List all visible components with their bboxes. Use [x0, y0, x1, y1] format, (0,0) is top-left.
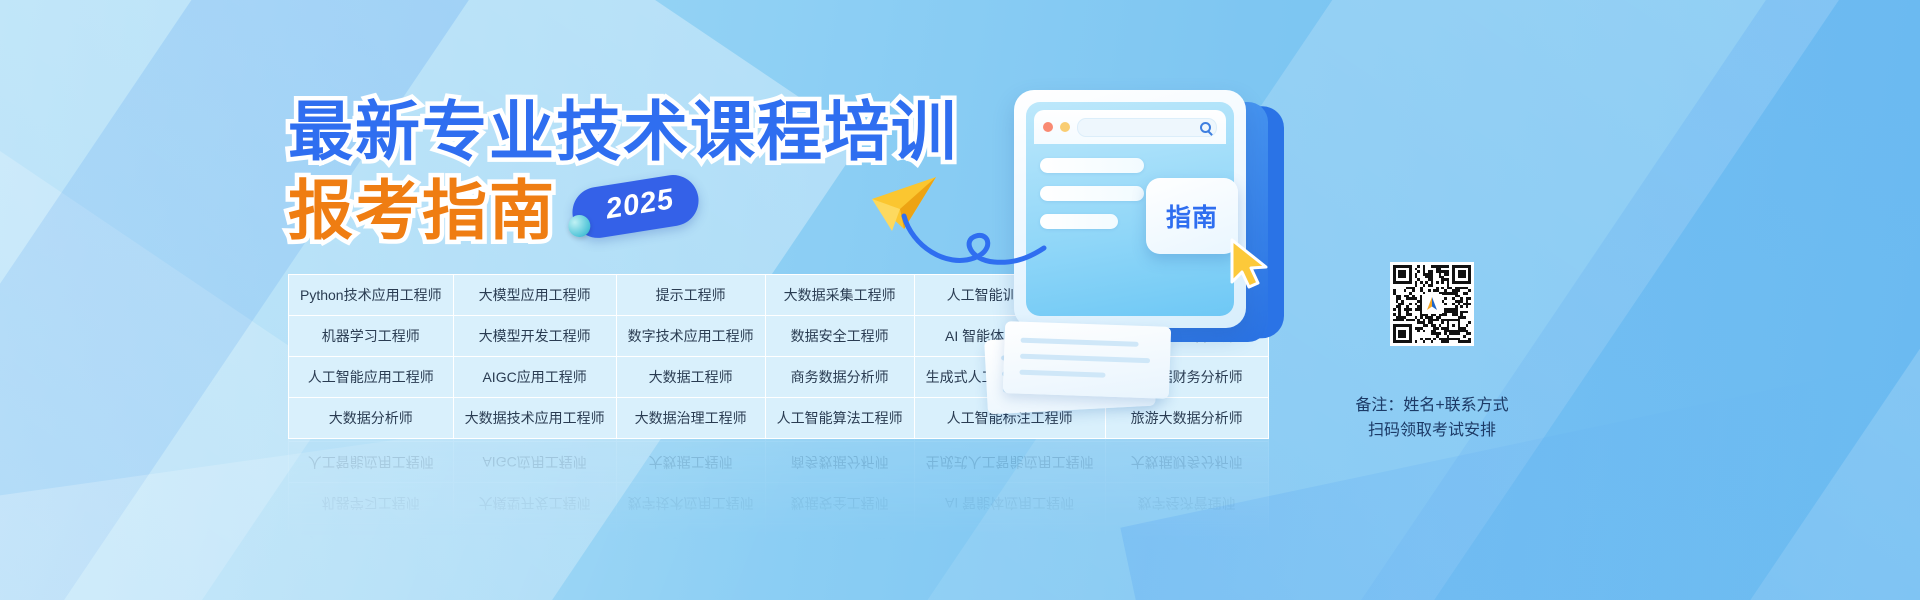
course-cell: 人工智能应用工程师 — [289, 357, 454, 398]
course-cell: 数据安全工程师 — [765, 483, 914, 524]
qr-block: 备注：姓名+联系方式 扫码领取考试安排 — [1352, 262, 1512, 444]
hero-illustration: 指南 — [960, 60, 1340, 460]
banner-title-sub: 报考指南 — [288, 175, 556, 248]
promo-banner: 最新专业技术课程培训 报考指南 2025 Python技术应用工程师大模型应用工… — [0, 0, 1920, 600]
course-cell: 大模型开发工程师 — [453, 316, 616, 357]
placeholder-line — [1040, 186, 1144, 201]
course-cell: 商务数据分析师 — [765, 442, 914, 483]
plane-trail-line — [898, 210, 1048, 279]
course-cell: 大数据工程师 — [616, 442, 765, 483]
table-row: 机器学习工程师大模型开发工程师数字技术应用工程师数据安全工程师AI 智能体应用工… — [289, 483, 1269, 524]
course-cell: 大数据采集工程师 — [765, 524, 914, 565]
guide-button-label: 指南 — [1166, 198, 1218, 234]
course-cell: AIGC应用工程师 — [453, 357, 616, 398]
qr-caption-line-1: 备注：姓名+联系方式 — [1352, 394, 1512, 419]
placeholder-line — [1040, 214, 1118, 229]
course-cell: 大模型应用工程师 — [453, 275, 616, 316]
printed-paper-group — [980, 310, 1210, 430]
qr-caption-line-2: 扫码领取考试安排 — [1352, 419, 1512, 444]
course-cell: 数字技术应用工程师 — [616, 483, 765, 524]
guide-button: 指南 — [1146, 178, 1238, 254]
course-cell: 大数据平台运维工程师 — [1105, 524, 1268, 565]
bg-streak — [1516, 118, 1920, 600]
course-cell: 机器学习工程师 — [289, 483, 454, 524]
course-cell: 人工智能应用工程师 — [289, 442, 454, 483]
banner-title-main: 最新专业技术课程培训 — [288, 96, 958, 169]
subtitle-row: 报考指南 2025 — [288, 175, 958, 248]
headline-group: 最新专业技术课程培训 报考指南 2025 — [288, 96, 958, 248]
course-cell: 大数据分析师 — [289, 398, 454, 439]
window-minimize-dot-icon — [1060, 122, 1070, 132]
course-cell: 提示工程师 — [616, 524, 765, 565]
course-cell: 大数据治理工程师 — [616, 398, 765, 439]
year-badge: 2025 — [569, 171, 702, 241]
course-cell: AI 智能体应用工程师 — [914, 483, 1105, 524]
course-cell: 大模型应用工程师 — [453, 524, 616, 565]
course-cell: 人工智能算法工程师 — [765, 398, 914, 439]
course-cell: 数据安全工程师 — [765, 316, 914, 357]
course-cell: AIGC应用工程师 — [453, 442, 616, 483]
content-placeholder-lines — [1040, 158, 1144, 242]
table-row: Python技术应用工程师大模型应用工程师提示工程师大数据采集工程师人工智能训练… — [289, 524, 1269, 565]
course-cell: 商务数据分析师 — [765, 357, 914, 398]
browser-titlebar — [1034, 110, 1226, 144]
course-cell: 数字技术应用工程师 — [616, 316, 765, 357]
course-cell: Python技术应用工程师 — [289, 275, 454, 316]
course-cell: Python技术应用工程师 — [289, 524, 454, 565]
qr-center-logo-icon — [1422, 294, 1442, 314]
course-cell: 人工智能训练工程师 — [914, 524, 1105, 565]
course-cell: 机器学习工程师 — [289, 316, 454, 357]
paper-sheet — [1003, 321, 1171, 399]
qr-code — [1390, 262, 1474, 346]
course-cell: 数字经济管理师 — [1105, 483, 1268, 524]
placeholder-line — [1040, 158, 1144, 173]
course-cell: 大数据工程师 — [616, 357, 765, 398]
course-cell: 大数据技术应用工程师 — [453, 398, 616, 439]
course-cell: 提示工程师 — [616, 275, 765, 316]
window-close-dot-icon — [1043, 122, 1053, 132]
course-cell: 大模型开发工程师 — [453, 483, 616, 524]
qr-caption: 备注：姓名+联系方式 扫码领取考试安排 — [1352, 394, 1512, 444]
course-cell: 大数据采集工程师 — [765, 275, 914, 316]
browser-search-field — [1077, 118, 1217, 137]
search-icon — [1200, 122, 1211, 133]
